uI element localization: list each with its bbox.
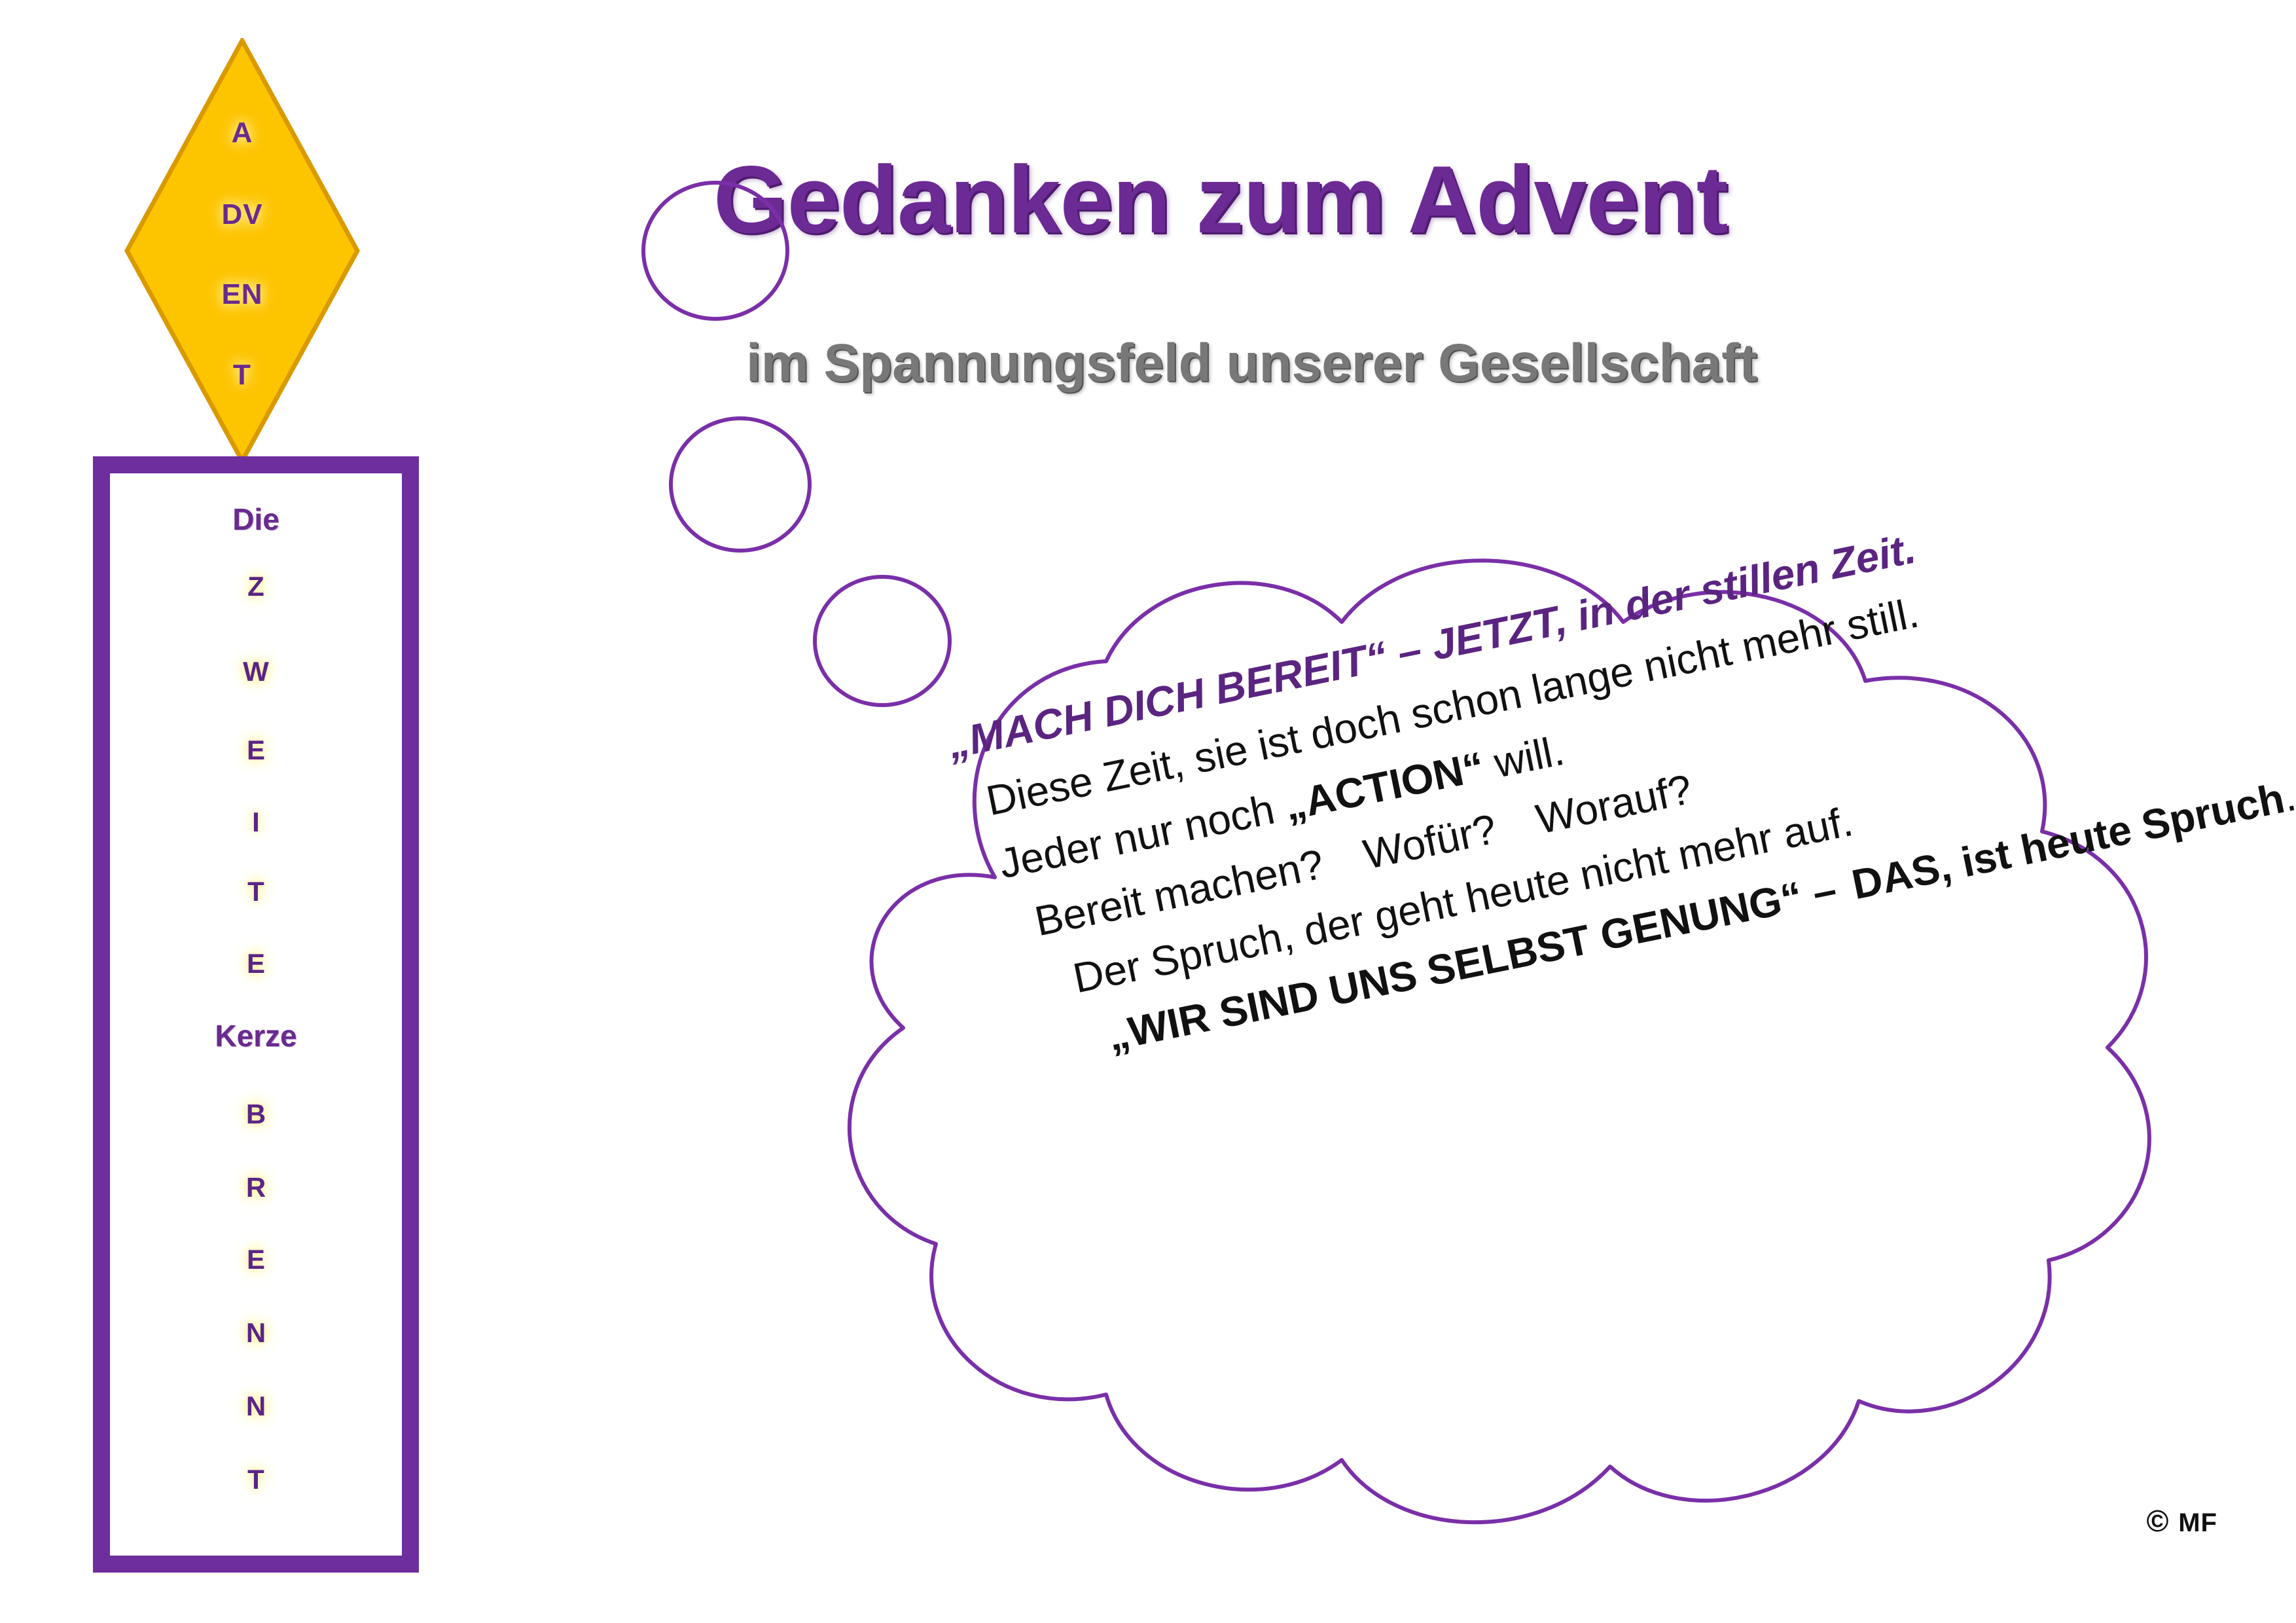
- advent-candle-graphic: A DV EN T Die Z W E I T E Kerze B R E N …: [0, 0, 471, 1623]
- candle-letter-b: B: [93, 1099, 419, 1130]
- page-title: Gedanken zum Advent: [713, 149, 2088, 249]
- candle-letter-r: R: [93, 1172, 419, 1203]
- candle-letter-e1: E: [93, 735, 419, 766]
- copyright-notice: © MF: [2147, 1503, 2217, 1539]
- page-subtitle: im Spannungsfeld unserer Gesellschaft: [746, 333, 1757, 394]
- spacer: [1839, 900, 1855, 903]
- cloud-line-3-suffix: will.: [1479, 726, 1568, 788]
- title-block: Gedanken zum Advent: [713, 149, 2088, 249]
- spacer: [1499, 834, 1540, 843]
- flame-letter-a: A: [124, 117, 360, 149]
- thought-trail-circle-medium: [669, 416, 812, 553]
- candle-label-kerze: Kerze: [93, 1018, 419, 1053]
- candle-letter-n2: N: [93, 1391, 419, 1422]
- candle-letter-z: Z: [93, 571, 419, 602]
- candle-label-die: Die: [93, 501, 419, 537]
- flame-letter-dv: DV: [124, 198, 360, 231]
- thought-trail-circle-large: [641, 181, 789, 321]
- candle-letter-e2: E: [93, 948, 419, 979]
- candle-letter-w: W: [93, 656, 419, 687]
- candle-letter-i: I: [93, 807, 419, 838]
- candle-letter-n1: N: [93, 1317, 419, 1349]
- candle-letter-e3: E: [93, 1244, 419, 1275]
- flame-letter-en: EN: [124, 278, 360, 311]
- flame-letter-t: T: [124, 359, 360, 392]
- spacer: [1326, 869, 1367, 877]
- flame-diamond-icon: [124, 38, 360, 464]
- candle-letter-t: T: [93, 876, 419, 907]
- candle-letter-t2: T: [93, 1464, 419, 1495]
- copyright-icon: ©: [2147, 1504, 2170, 1538]
- copyright-initials: MF: [2178, 1508, 2217, 1537]
